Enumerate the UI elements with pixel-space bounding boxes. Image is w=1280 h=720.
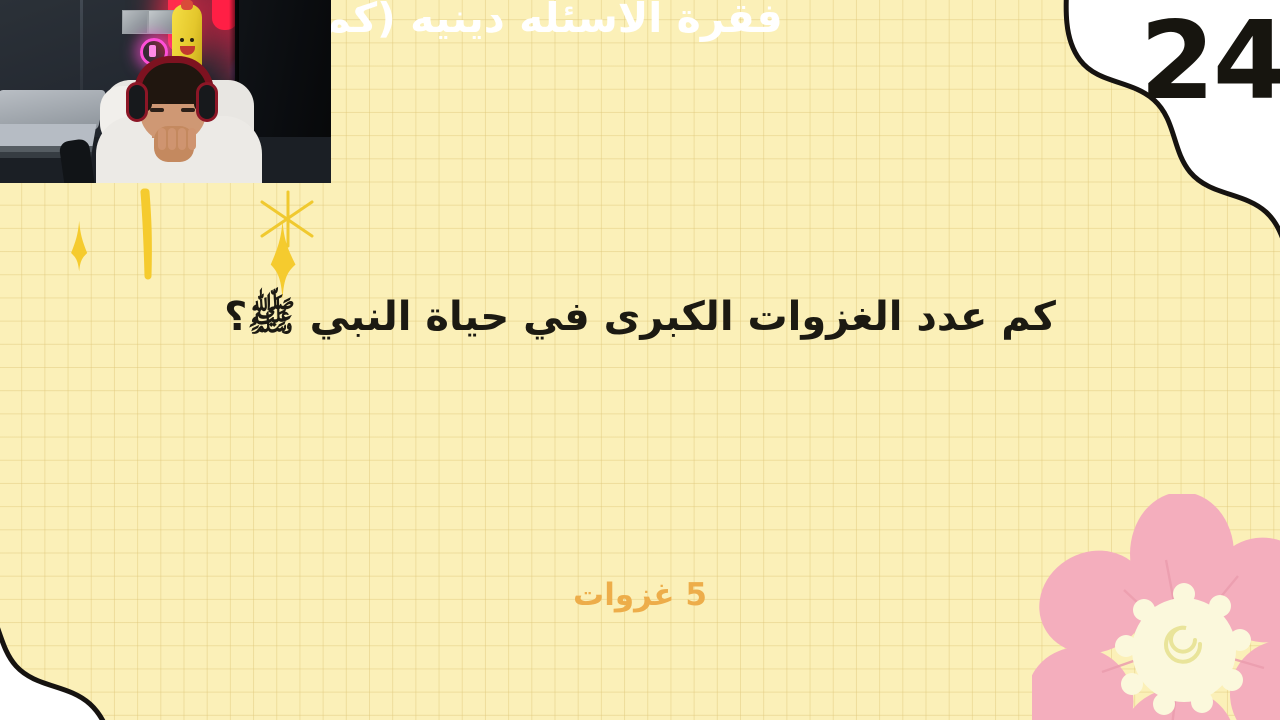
streamer-webcam-feed [0, 0, 331, 183]
question-text: كم عدد الغزوات الكبرى في حياة النبي ﷺ؟ [0, 292, 1280, 350]
answer-text: 5 غزوات [0, 577, 1280, 613]
stream-overlay-stage: 24 [0, 0, 1280, 720]
question-counter: 24 [1140, 8, 1280, 116]
sparkles-decoration [36, 188, 316, 302]
